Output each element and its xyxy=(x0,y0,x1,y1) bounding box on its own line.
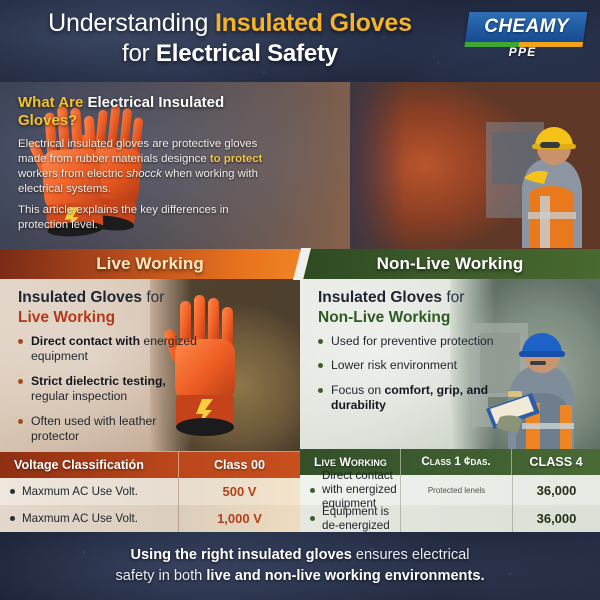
table-cell-label: Maxmum AC Use Volt. xyxy=(0,485,178,498)
list-item: Used for preventive protection xyxy=(318,334,528,349)
column-non-live-working: Insulated Gloves for Non-Live Working Us… xyxy=(300,279,600,532)
poster-header: Understanding Insulated Gloves for Elect… xyxy=(0,0,600,82)
comparison-columns: Insulated Gloves for Live Working Direct… xyxy=(0,279,600,532)
right-head-for: for xyxy=(446,289,464,306)
table-row: Direct contact with energized equipment … xyxy=(300,475,600,505)
title-line-2: for Electrical Safety xyxy=(0,39,460,68)
table-col-header-live-working: Live Working xyxy=(300,455,400,469)
table-cell-value: 36,000 xyxy=(512,475,600,505)
table-row: Maxmum AC Use Volt. 1,000 V xyxy=(0,505,300,532)
intro-paragraph-1: Electrical insulated gloves are protecti… xyxy=(18,137,268,197)
section-bar-non-live-label: Non-Live Working xyxy=(377,254,524,274)
electrician-worker-illustration xyxy=(482,100,592,248)
left-head-part-a: Insulated Gloves xyxy=(18,289,146,306)
voltage-classification-table: Voltage Classificatión Class 00 Maxmum A… xyxy=(0,452,300,532)
left-column-bullets: Direct contact with energized equipment … xyxy=(18,334,198,454)
table-header-row: Voltage Classificatión Class 00 xyxy=(0,452,300,478)
table-cell-value: 1,000 V xyxy=(178,505,300,532)
right-column-heading: Insulated Gloves for Non-Live Working xyxy=(318,288,464,328)
logo-main-plate: CHEAMY xyxy=(465,12,587,42)
logo-sub-plate: PPE xyxy=(462,43,583,61)
table-cell-label: Maxmum AC Use Volt. xyxy=(0,512,178,525)
infographic-poster: Understanding Insulated Gloves for Elect… xyxy=(0,0,600,600)
bullet-rest-text: Focus on xyxy=(331,383,385,397)
title-word-understanding: Understanding xyxy=(48,9,215,37)
left-head-part-b: Live Working xyxy=(18,309,115,326)
intro-heading-part-2: Electrical Insulated xyxy=(87,94,224,111)
bullet-rest-text: Lower risk environment xyxy=(331,358,457,372)
footer-line-2: safety in both live and non-live working… xyxy=(115,566,484,587)
column-live-working: Insulated Gloves for Live Working Direct… xyxy=(0,279,300,532)
title-word-for: for xyxy=(122,40,156,67)
intro-para1-b: workers from electric xyxy=(18,168,126,180)
footer-text: Using the right insulated gloves ensures… xyxy=(89,545,510,586)
table-cell-value: 36,000 xyxy=(512,505,600,532)
footer-line1-bold: Using the right insulated gloves xyxy=(131,547,352,563)
intro-heading-part-3: Gloves? xyxy=(18,112,77,129)
footer-line2-bold: live and non-live working environments. xyxy=(206,568,484,584)
section-bar-non-live-working: Non-Live Working xyxy=(300,249,600,279)
bullet-bold-text: Direct contact with xyxy=(31,334,140,348)
right-head-part-b: Non-Live Working xyxy=(318,309,450,326)
footer-line2-rest: safety in both xyxy=(115,568,206,584)
title-line-1: Understanding Insulated Gloves xyxy=(0,8,460,39)
page-title: Understanding Insulated Gloves for Elect… xyxy=(0,8,460,68)
poster-footer: Using the right insulated gloves ensures… xyxy=(0,532,600,600)
section-bar-live-working: Live Working xyxy=(0,249,300,279)
bullet-rest-text: regular inspection xyxy=(31,389,127,403)
intro-heading: What Are Electrical Insulated Gloves? xyxy=(18,94,268,130)
logo-text-ppe: PPE xyxy=(509,45,537,59)
title-word-electrical-safety: Electrical Safety xyxy=(156,40,338,67)
intro-para1-emphasis: shocck xyxy=(126,168,161,180)
list-item: Focus on comfort, grip, and durability xyxy=(318,383,528,414)
list-item: Strict dielectric testing, regular inspe… xyxy=(18,374,198,405)
table-row: Equipment is de-energized 36,000 xyxy=(300,505,600,532)
section-bar-row: Live Working Non-Live Working xyxy=(0,249,600,279)
bullet-bold-text: Strict dielectric testing, xyxy=(31,374,166,388)
table-cell-note: Protected lenels xyxy=(400,475,512,505)
right-head-part-a: Insulated Gloves xyxy=(318,289,446,306)
list-item: Direct contact with energized equipment xyxy=(18,334,198,365)
cheamy-ppe-logo: CHEAMY PPE xyxy=(463,12,592,59)
table-row: Maxmum AC Use Volt. 500 V xyxy=(0,478,300,505)
table-cell-note xyxy=(400,505,512,532)
table-col-header-voltage: Voltage Classificatión xyxy=(0,458,178,472)
table-col-header-class: Class 00 xyxy=(178,452,300,478)
title-word-insulated-gloves: Insulated Gloves xyxy=(215,9,412,37)
intro-heading-part-1: What Are xyxy=(18,94,87,111)
bullet-rest-text: Used for preventive protection xyxy=(331,334,494,348)
right-column-bullets: Used for preventive protection Lower ris… xyxy=(318,334,528,423)
logo-text-cheamy: CHEAMY xyxy=(484,16,569,38)
list-item: Often used with leather protector xyxy=(18,414,198,445)
footer-line-1: Using the right insulated gloves ensures… xyxy=(115,545,484,566)
list-item: Lower risk environment xyxy=(318,358,528,373)
table-col-header-class1: Class 1 ¢das. xyxy=(400,449,512,475)
left-head-for: for xyxy=(146,289,164,306)
bullet-rest-text: Often used with leather protector xyxy=(31,414,156,443)
table-cell-value: 500 V xyxy=(178,478,300,505)
intro-para1-highlight: to protect xyxy=(210,153,263,165)
intro-text-block: What Are Electrical Insulated Gloves? El… xyxy=(18,94,268,233)
footer-line1-rest: ensures electrical xyxy=(352,547,470,563)
left-column-heading: Insulated Gloves for Live Working xyxy=(18,288,164,328)
intro-paragraph-2: This article explains the key difference… xyxy=(18,203,268,233)
section-bar-live-label: Live Working xyxy=(96,254,204,274)
intro-section: What Are Electrical Insulated Gloves? El… xyxy=(0,82,600,249)
table-cell-label: Equipment is de-energized xyxy=(300,505,400,532)
table-col-header-class4: CLASS 4 xyxy=(512,449,600,475)
protection-class-table: Live Working Class 1 ¢das. CLASS 4 Direc… xyxy=(300,449,600,532)
